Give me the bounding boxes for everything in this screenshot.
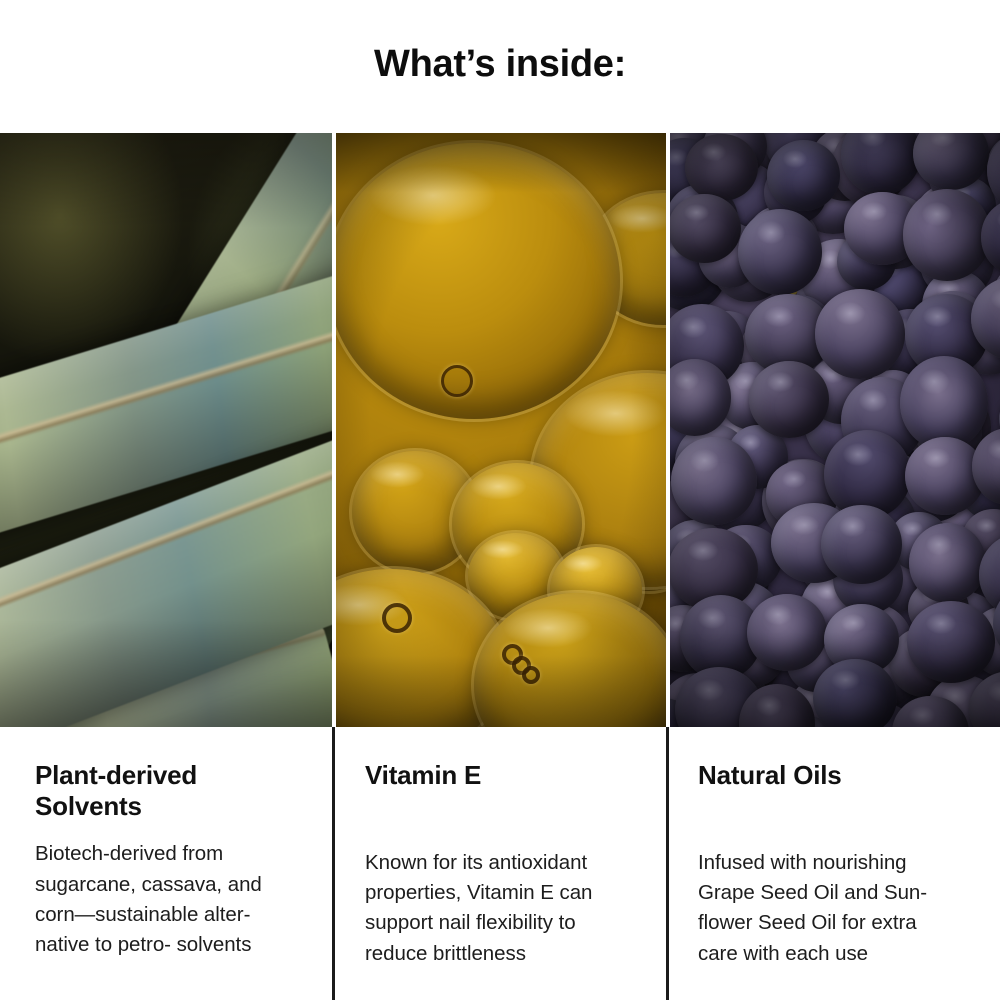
card-body: Infused with nourishing Grape Seed Oil a… xyxy=(698,848,970,969)
card-plant-derived-solvents: Plant-derived Solvents Biotech-derived f… xyxy=(0,727,332,1000)
grape-berry xyxy=(747,594,828,672)
grape-berry xyxy=(738,209,822,295)
grape-berry xyxy=(767,140,840,211)
card-natural-oils: Natural Oils Infused with nourishing Gra… xyxy=(666,727,1000,1000)
image-oil-bubbles xyxy=(336,133,666,727)
card-vitamin-e: Vitamin E Known for its antioxidant prop… xyxy=(332,727,666,1000)
grape-cluster xyxy=(670,133,1000,727)
grape-berry xyxy=(749,361,828,438)
image-sugarcane xyxy=(0,133,332,727)
image-strip xyxy=(0,133,1000,727)
grape-berry xyxy=(670,194,741,263)
grape-berry xyxy=(671,437,756,525)
image-grapes xyxy=(670,133,1000,727)
grape-berry xyxy=(907,601,995,682)
card-title: Natural Oils xyxy=(698,760,970,791)
grape-berry xyxy=(903,189,992,280)
oil-micro-bubble xyxy=(522,666,540,684)
oil-micro-bubble xyxy=(441,365,473,397)
grape-berry xyxy=(900,356,989,450)
oil-micro-bubble xyxy=(382,603,412,633)
card-title: Plant-derived Solvents xyxy=(35,760,302,821)
page-title: What’s inside: xyxy=(0,44,1000,86)
grape-berry xyxy=(685,134,757,201)
card-body: Biotech-derived from sugarcane, cassava,… xyxy=(35,839,302,960)
text-row: Plant-derived Solvents Biotech-derived f… xyxy=(0,727,1000,1000)
grape-berry xyxy=(909,523,987,603)
card-body: Known for its antioxidant properties, Vi… xyxy=(365,848,636,969)
infographic-page: What’s inside: xyxy=(0,0,1000,1000)
grape-berry xyxy=(815,289,904,378)
grape-berry xyxy=(813,659,897,727)
card-title: Vitamin E xyxy=(365,760,636,791)
oil-bubble xyxy=(336,143,620,419)
grape-berry xyxy=(821,505,901,584)
